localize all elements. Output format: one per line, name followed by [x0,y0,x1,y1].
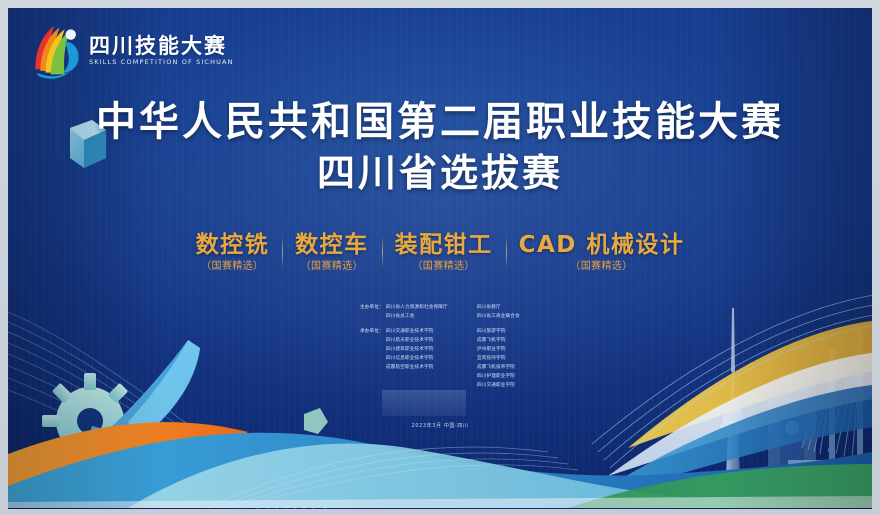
hosts-block: 承办单位： 四川交通职业技术学院 四川航天职业技术学院 四川建筑职业技术学院 四… [360,328,560,391]
organizer-name: 四川省总工会 [386,313,469,322]
category-item-1: 数控铣 （国赛精选） [183,233,283,272]
hosts-label: 承办单位： [360,328,386,391]
category-name: 数控车 [295,233,369,258]
backdrop-photo: 四川技能大赛 SKILLS COMPETITION OF SICHUAN 中华人… [0,0,880,515]
organizers-columns: 四川省人力资源和社会保障厅 四川省总工会 四川省教厅 四川省工商业联合会 [386,304,560,322]
organizers-block: 主办单位： 四川省人力资源和社会保障厅 四川省总工会 四川省教厅 四川省工商业联… [360,304,560,322]
logo-title-cn: 四川技能大赛 [89,36,234,57]
host-name: 四川信息职业技术学院 [386,355,469,364]
cable-bridge-icon [788,328,872,478]
host-name: 四川交通职业学院 [477,382,560,391]
category-note: （国赛精选） [196,262,270,272]
category-note: （国赛精选） [519,262,685,272]
logo-title-en: SKILLS COMPETITION OF SICHUAN [89,59,234,66]
category-note: （国赛精选） [295,262,369,272]
sichuan-skills-flame-logo-icon [30,22,82,80]
event-backdrop-board: 四川技能大赛 SKILLS COMPETITION OF SICHUAN 中华人… [8,8,872,509]
headline-line-2: 四川省选拔赛 [8,152,872,195]
organizers-right-column: 四川省教厅 四川省工商业联合会 [477,304,560,322]
category-name: CAD 机械设计 [519,233,685,258]
hosts-left-column: 四川交通职业技术学院 四川航天职业技术学院 四川建筑职业技术学院 四川信息职业技… [386,328,469,391]
category-note: （国赛精选） [395,262,493,272]
organizer-name: 四川省工商业联合会 [477,313,560,322]
host-name: 宜宾技师学院 [477,355,560,364]
host-name: 四川交通职业技术学院 [386,328,469,337]
headline-line-1: 中华人民共和国第二届职业技能大赛 [8,100,872,145]
host-name: 四川航天职业技术学院 [386,337,469,346]
category-name: 数控铣 [196,233,270,258]
organizer-name: 四川省人力资源和社会保障厅 [386,304,469,313]
hex-accent [304,408,328,434]
organizer-name: 四川省教厅 [477,304,560,313]
date-location-line: 2023年3月 中国·四川 [8,422,872,429]
gear-icon [42,373,138,469]
hosts-right-column: 四川旅游学院 成都飞机学院 泸州职业学院 宜宾技师学院 成都飞机技师学院 四川护… [477,328,560,391]
headline-block: 中华人民共和国第二届职业技能大赛 四川省选拔赛 [8,100,872,194]
hosts-columns: 四川交通职业技术学院 四川航天职业技术学院 四川建筑职业技术学院 四川信息职业技… [386,328,560,391]
ribbon-waves [584,294,872,502]
category-list: 数控铣 （国赛精选） 数控车 （国赛精选） 装配钳工 （国赛精选） CAD 机械… [8,233,872,272]
category-item-2: 数控车 （国赛精选） [282,233,382,272]
monument-gate-icon [768,370,816,504]
light-reflection-patch [382,390,466,416]
host-name: 四川建筑职业技术学院 [386,346,469,355]
category-item-3: 装配钳工 （国赛精选） [382,233,506,272]
host-name: 四川旅游学院 [477,328,560,337]
organizers-left-column: 四川省人力资源和社会保障厅 四川省总工会 [386,304,469,322]
host-name: 四川护理职业学院 [477,373,560,382]
organizers-label: 主办单位： [360,304,386,322]
host-name: 成都航空职业技术学院 [386,364,469,373]
category-name: 装配钳工 [395,233,493,258]
credits-block: 主办单位： 四川省人力资源和社会保障厅 四川省总工会 四川省教厅 四川省工商业联… [360,304,560,397]
logo-text-block: 四川技能大赛 SKILLS COMPETITION OF SICHUAN [89,36,234,66]
host-name: 成都飞机学院 [477,337,560,346]
event-logo: 四川技能大赛 SKILLS COMPETITION OF SICHUAN [30,22,234,80]
category-item-4: CAD 机械设计 （国赛精选） [506,233,698,272]
host-name: 泸州职业学院 [477,346,560,355]
tv-tower-icon [710,308,756,508]
host-name: 成都飞机技师学院 [477,364,560,373]
